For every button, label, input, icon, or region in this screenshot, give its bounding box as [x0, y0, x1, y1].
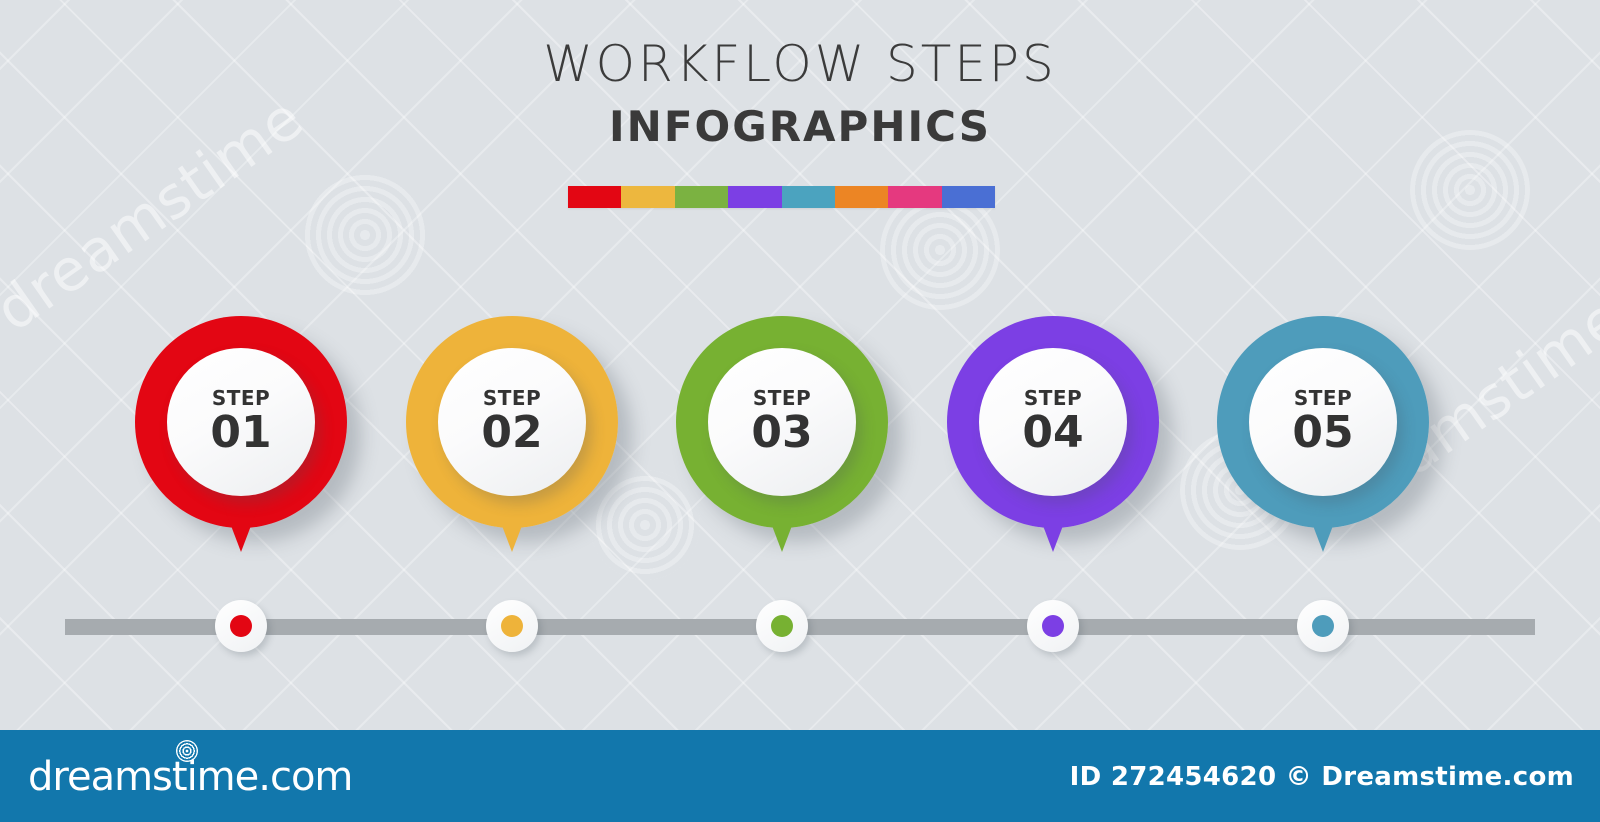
step-label: STEP [1294, 388, 1352, 408]
segment-orange [835, 186, 888, 208]
watermark-spiral-2 [880, 190, 1000, 310]
step-badge: STEP03 [708, 348, 856, 496]
footer-band: dreamstime.com ID 272454620 © Dreamstime… [0, 730, 1600, 822]
accent-color-bar [568, 186, 995, 208]
timeline-dot-3[interactable] [756, 600, 808, 652]
pin-pointer-icon [219, 494, 263, 552]
step-label: STEP [1024, 388, 1082, 408]
page-title: WORKFLOW STEPS [0, 36, 1600, 94]
step-label: STEP [753, 388, 811, 408]
step-label: STEP [212, 388, 270, 408]
timeline-dot-core [771, 615, 793, 637]
watermark-spiral-1 [300, 170, 430, 300]
timeline-dot-2[interactable] [486, 600, 538, 652]
timeline-dot-core [1042, 615, 1064, 637]
segment-amber [621, 186, 674, 208]
segment-red [568, 186, 621, 208]
step-number: 02 [481, 410, 542, 456]
segment-blue [942, 186, 995, 208]
timeline-dot-5[interactable] [1297, 600, 1349, 652]
step-number: 01 [210, 410, 271, 456]
timeline-dot-core [1312, 615, 1334, 637]
step-badge: STEP05 [1249, 348, 1397, 496]
steps-row: STEP01STEP02STEP03STEP04STEP05 [0, 316, 1600, 576]
pin-pointer-icon [760, 494, 804, 552]
pin-pointer-icon [1301, 494, 1345, 552]
step-number: 03 [751, 410, 812, 456]
step-number: 04 [1022, 410, 1083, 456]
step-marker-01[interactable]: STEP01 [135, 316, 347, 528]
timeline-dot-core [501, 615, 523, 637]
segment-green [675, 186, 728, 208]
segment-pink [888, 186, 941, 208]
step-badge: STEP04 [979, 348, 1127, 496]
pin-pointer-icon [490, 494, 534, 552]
pin-pointer-icon [1031, 494, 1075, 552]
step-label: STEP [483, 388, 541, 408]
step-marker-04[interactable]: STEP04 [947, 316, 1159, 528]
dreamstime-logo: dreamstime.com [28, 754, 352, 800]
step-marker-05[interactable]: STEP05 [1217, 316, 1429, 528]
timeline-dot-core [230, 615, 252, 637]
step-marker-03[interactable]: STEP03 [676, 316, 888, 528]
timeline-dot-4[interactable] [1027, 600, 1079, 652]
timeline-dot-1[interactable] [215, 600, 267, 652]
page-subtitle: INFOGRAPHICS [0, 102, 1600, 151]
header-block: WORKFLOW STEPS INFOGRAPHICS [0, 36, 1600, 151]
step-badge: STEP02 [438, 348, 586, 496]
infographic-canvas: dreamstime dreamstime WORKFLOW STEPS INF… [0, 0, 1600, 822]
step-number: 05 [1292, 410, 1353, 456]
spiral-icon [176, 740, 198, 762]
image-id-label: ID 272454620 © Dreamstime.com [1070, 762, 1574, 792]
step-marker-02[interactable]: STEP02 [406, 316, 618, 528]
step-badge: STEP01 [167, 348, 315, 496]
segment-teal [782, 186, 835, 208]
segment-purple [728, 186, 781, 208]
